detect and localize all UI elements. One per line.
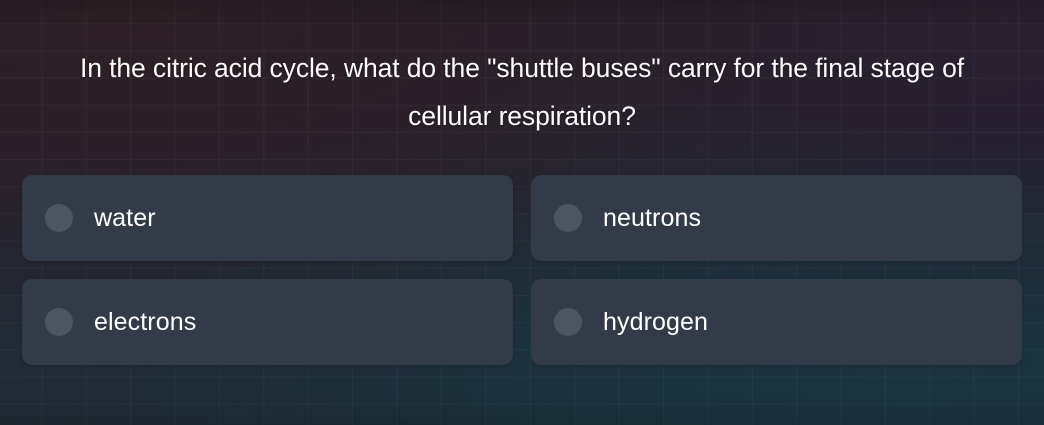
answer-option-4[interactable]: hydrogen xyxy=(531,279,1022,365)
quiz-screen: In the citric acid cycle, what do the "s… xyxy=(0,0,1044,425)
question-prompt: In the citric acid cycle, what do the "s… xyxy=(60,44,984,140)
radio-unselected-icon[interactable] xyxy=(45,204,73,232)
answer-option-label: water xyxy=(94,204,156,232)
answer-option-3[interactable]: electrons xyxy=(22,279,513,365)
answer-option-1[interactable]: water xyxy=(22,175,513,261)
radio-unselected-icon[interactable] xyxy=(554,308,582,336)
answer-option-2[interactable]: neutrons xyxy=(531,175,1022,261)
quiz-content: In the citric acid cycle, what do the "s… xyxy=(0,0,1044,425)
answer-option-label: hydrogen xyxy=(603,308,708,336)
answer-options-grid: water neutrons electrons hydrogen xyxy=(22,175,1022,365)
answer-option-label: electrons xyxy=(94,308,196,336)
radio-unselected-icon[interactable] xyxy=(554,204,582,232)
answer-option-label: neutrons xyxy=(603,204,701,232)
radio-unselected-icon[interactable] xyxy=(45,308,73,336)
